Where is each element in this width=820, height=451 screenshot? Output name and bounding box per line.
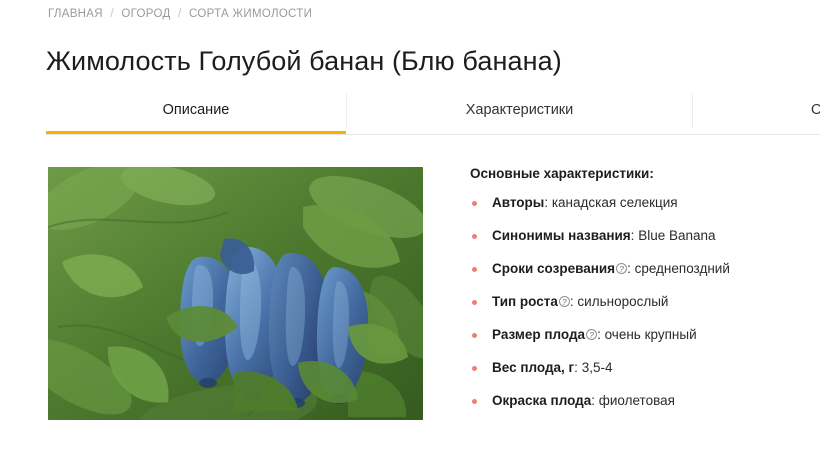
honeysuckle-berries-photo[interactable] bbox=[48, 167, 423, 420]
spec-label: Окраска плода bbox=[492, 393, 591, 408]
breadcrumb-item-honeysuckle-varieties[interactable]: СОРТА ЖИМОЛОСТИ bbox=[189, 8, 312, 20]
bullet-icon bbox=[472, 201, 477, 206]
list-item: Окраска плода: фиолетовая bbox=[470, 393, 810, 409]
spec-label: Вес плода, г bbox=[492, 360, 574, 375]
list-item: Авторы: канадская селекция bbox=[470, 195, 810, 211]
page-title: Жимолость Голубой банан (Блю банана) bbox=[46, 46, 562, 77]
spec-value: 3,5-4 bbox=[582, 360, 613, 375]
breadcrumb-separator: / bbox=[110, 8, 114, 20]
spec-label: Сроки созревания bbox=[492, 261, 615, 276]
list-item: Вес плода, г: 3,5-4 bbox=[470, 360, 810, 376]
tab-description[interactable]: Описание bbox=[46, 88, 346, 134]
list-item: Синонимы названия: Blue Banana bbox=[470, 228, 810, 244]
breadcrumb: ГЛАВНАЯ / ОГОРОД / СОРТА ЖИМОЛОСТИ bbox=[48, 8, 312, 20]
bullet-icon bbox=[472, 267, 477, 272]
spec-value: очень крупный bbox=[605, 327, 697, 342]
page-root: ГЛАВНАЯ / ОГОРОД / СОРТА ЖИМОЛОСТИ Жимол… bbox=[0, 0, 820, 451]
breadcrumb-separator: / bbox=[178, 8, 182, 20]
specs-list: Авторы: канадская селекция Синонимы назв… bbox=[470, 195, 810, 409]
list-item: Сроки созревания?: среднепоздний bbox=[470, 261, 810, 277]
bullet-icon bbox=[472, 366, 477, 371]
bullet-icon bbox=[472, 234, 477, 239]
info-icon[interactable]: ? bbox=[559, 296, 570, 307]
spec-value: фиолетовая bbox=[599, 393, 675, 408]
list-item: Тип роста?: сильнорослый bbox=[470, 294, 810, 310]
spec-value: среднепоздний bbox=[635, 261, 730, 276]
tab-bar: Описание Характеристики О bbox=[46, 88, 820, 135]
spec-label: Тип роста bbox=[492, 294, 558, 309]
tab-characteristics[interactable]: Характеристики bbox=[347, 88, 692, 134]
tab-description-label: Описание bbox=[163, 102, 230, 118]
info-icon[interactable]: ? bbox=[616, 263, 627, 274]
spec-label: Синонимы названия bbox=[492, 228, 631, 243]
specs-heading: Основные характеристики: bbox=[470, 166, 810, 181]
spec-separator: : bbox=[597, 327, 605, 342]
breadcrumb-item-home[interactable]: ГЛАВНАЯ bbox=[48, 8, 103, 20]
spec-label: Размер плода bbox=[492, 327, 585, 342]
info-icon[interactable]: ? bbox=[586, 329, 597, 340]
bullet-icon bbox=[472, 333, 477, 338]
tab-reviews[interactable]: О bbox=[693, 88, 820, 134]
spec-separator: : bbox=[574, 360, 582, 375]
breadcrumb-item-garden[interactable]: ОГОРОД bbox=[121, 8, 170, 20]
bullet-icon bbox=[472, 399, 477, 404]
tab-reviews-label: О bbox=[811, 102, 820, 118]
spec-value: Blue Banana bbox=[638, 228, 715, 243]
spec-value: канадская селекция bbox=[552, 195, 678, 210]
spec-label: Авторы bbox=[492, 195, 544, 210]
spec-separator: : bbox=[544, 195, 552, 210]
specs-panel: Основные характеристики: Авторы: канадск… bbox=[470, 166, 810, 426]
bullet-icon bbox=[472, 300, 477, 305]
spec-separator: : bbox=[591, 393, 599, 408]
tab-characteristics-label: Характеристики bbox=[466, 102, 574, 118]
list-item: Размер плода?: очень крупный bbox=[470, 327, 810, 343]
spec-separator: : bbox=[627, 261, 635, 276]
spec-value: сильнорослый bbox=[577, 294, 668, 309]
